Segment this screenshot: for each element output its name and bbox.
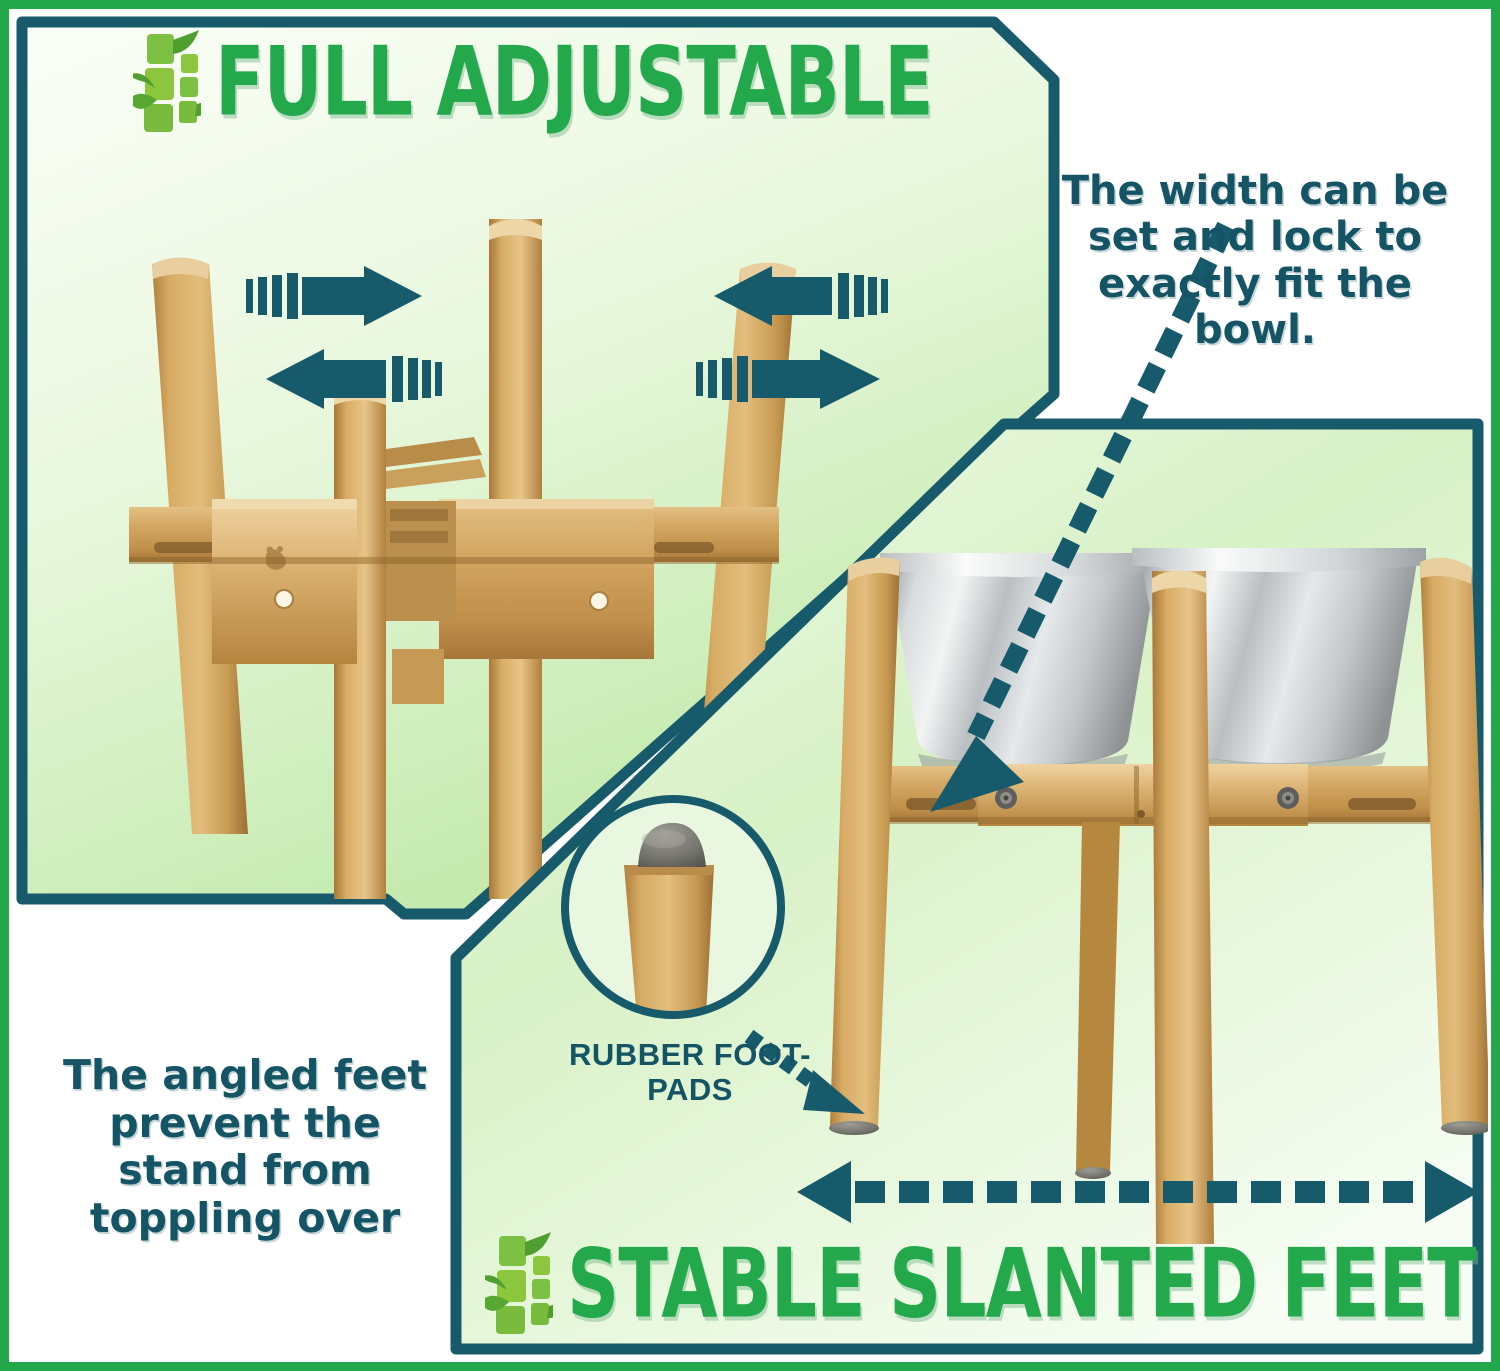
bamboo-stalk-right (179, 54, 198, 123)
headline-full-adjustable: FULL ADJUSTABLE (133, 30, 987, 135)
stand-slider-left (212, 499, 357, 664)
stand-leg-rear-center (1076, 822, 1120, 1171)
headline-stable-slanted-feet: STABLE SLANTED FEET (485, 1232, 1500, 1337)
note-width-adjustable: The width can be set and lock to exactly… (1035, 168, 1475, 354)
bamboo-stalk-right (531, 1256, 550, 1325)
headline-adjustable-text: FULL ADJUSTABLE (215, 28, 933, 138)
lock-hole-left (275, 590, 293, 608)
width-double-arrow (793, 1161, 1483, 1223)
rail-slot-right (1348, 798, 1416, 810)
caption-rubber-foot-pads: RUBBER FOOT-PADS (555, 1038, 825, 1107)
rubber-foot-pad-callout (528, 795, 818, 1045)
bamboo-leaf-top (173, 30, 199, 54)
lock-screw-right (1277, 787, 1299, 809)
bamboo-leaf-top (525, 1232, 551, 1256)
note-angled-feet: The angled feet prevent the stand from t… (45, 1052, 445, 1242)
headline-slanted-text: STABLE SLANTED FEET (567, 1230, 1476, 1340)
arrow-mid-left-left (254, 349, 444, 409)
bamboo-icon (485, 1232, 553, 1337)
pointer-arrow-head (930, 736, 1024, 812)
stand-leg-right (1420, 562, 1488, 1126)
arrow-top-left-right (244, 266, 424, 326)
bamboo-icon (133, 30, 201, 135)
